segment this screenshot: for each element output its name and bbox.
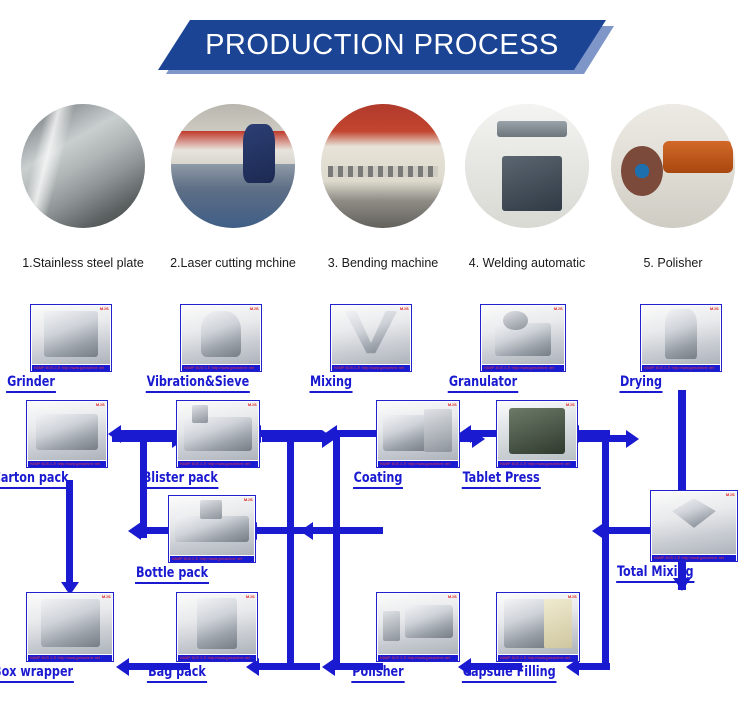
stainless-steel-plate-photo [21,104,145,228]
connector-carton-to-box-wrapper [66,480,73,590]
process-step-5-caption: 5. Polisher [586,256,750,270]
bus-mid-vertical [333,430,340,670]
node-watermark: HAMP MJS C.E http://www.jpmachine.net [378,655,458,661]
process-step-5: 5. Polisher [598,100,748,282]
node-badge: MJS [554,306,563,311]
node-badge: MJS [100,306,109,311]
bus-left-vertical [287,430,294,670]
node-watermark: HAMP MJS C.E http://www.jpmachine.net [178,461,258,467]
flow-node-label: Drying [619,374,663,393]
laser-cutting-machine-photo [171,104,295,228]
process-step-2-caption: 2.Laser cutting mchine [146,256,320,270]
process-steps-strip: 1.Stainless steel plate 2.Laser cutting … [0,100,750,282]
process-step-2: 2.Laser cutting mchine [158,100,308,282]
polisher-photo [611,104,735,228]
arrowhead-left [108,425,121,443]
node-badge: MJS [448,402,457,407]
welding-automatic-photo [465,104,589,228]
node-badge: MJS [448,594,457,599]
process-step-4: 4. Welding automatic [452,100,602,282]
arrowhead-left [322,658,335,676]
connector-bus-bottle-join [300,527,340,534]
flow-node-label: Capsule Filling [462,664,557,683]
node-badge: MJS [244,497,253,502]
node-badge: MJS [566,402,575,407]
node-watermark: HAMP MJS C.E http://www.jpmachine.net [642,365,720,371]
flow-node-label: Vibration&Sieve [146,374,250,393]
flow-node-label: Coating [353,470,403,489]
flow-node-label: Bag pack [147,664,206,683]
page-banner: PRODUCTION PROCESS [0,14,750,78]
production-flowchart: MJS HAMP MJS C.E http://www.jpmachine.ne… [0,290,750,706]
node-watermark: HAMP MJS C.E http://www.jpmachine.net [498,461,576,467]
flow-node-label: Carton pack [0,470,69,489]
connector-coating-to-bus [336,430,381,437]
node-badge: MJS [400,306,409,311]
node-badge: MJS [248,402,257,407]
node-badge: MJS [710,306,719,311]
connector-to-bag-pack [258,663,320,670]
node-watermark: HAMP MJS C.E http://www.jpmachine.net [28,461,106,467]
connector-total-mixing-out [605,527,650,534]
flow-node-label: Grinder [6,374,55,393]
process-step-1: 1.Stainless steel plate [8,100,158,282]
node-badge: MJS [246,594,255,599]
flow-node-label: Granulator [448,374,518,393]
page-title: PRODUCTION PROCESS [158,20,606,70]
arrowhead-left [116,658,129,676]
node-watermark: HAMP MJS C.E http://www.jpmachine.net [170,556,254,562]
node-watermark: HAMP MJS C.E http://www.jpmachine.net [28,655,112,661]
node-watermark: HAMP MJS C.E http://www.jpmachine.net [32,365,110,371]
flow-node-label: Mixing [309,374,353,393]
node-watermark: HAMP MJS C.E http://www.jpmachine.net [182,365,260,371]
process-step-3: 3. Bending machine [308,100,458,282]
flow-node-label: Blister pack [142,470,219,489]
flow-node-label: Tablet Press [462,470,541,489]
node-badge: MJS [568,594,577,599]
node-watermark: HAMP MJS C.E http://www.jpmachine.net [378,461,458,467]
node-badge: MJS [96,402,105,407]
node-watermark: HAMP MJS C.E http://www.jpmachine.net [482,365,564,371]
connector-bus-to-tablet-press [578,430,610,437]
bending-machine-photo [321,104,445,228]
arrowhead-left [128,522,141,540]
node-watermark: HAMP MJS C.E http://www.jpmachine.net [332,365,410,371]
flow-node-label: Box wrapper [0,664,74,683]
node-badge: MJS [726,492,735,497]
node-badge: MJS [250,306,259,311]
flow-node-label: Total Mixing [616,564,694,583]
arrowhead-right [626,430,639,448]
connector-bus-to-capsule-filling [578,663,610,670]
connector-blister-to-carton [120,430,182,437]
node-badge: MJS [102,594,111,599]
flow-node-label: Polisher [351,664,404,683]
node-watermark: HAMP MJS C.E http://www.jpmachine.net [498,655,578,661]
node-watermark: HAMP MJS C.E http://www.jpmachine.net [652,555,736,561]
flow-node-label: Bottle pack [135,565,209,584]
process-step-1-caption: 1.Stainless steel plate [0,256,170,270]
bus-right-vertical [602,430,609,670]
connector-to-bottle-pack [255,527,300,534]
connector-bus-to-bottle-pack [333,527,383,534]
node-watermark: HAMP MJS C.E http://www.jpmachine.net [178,655,256,661]
